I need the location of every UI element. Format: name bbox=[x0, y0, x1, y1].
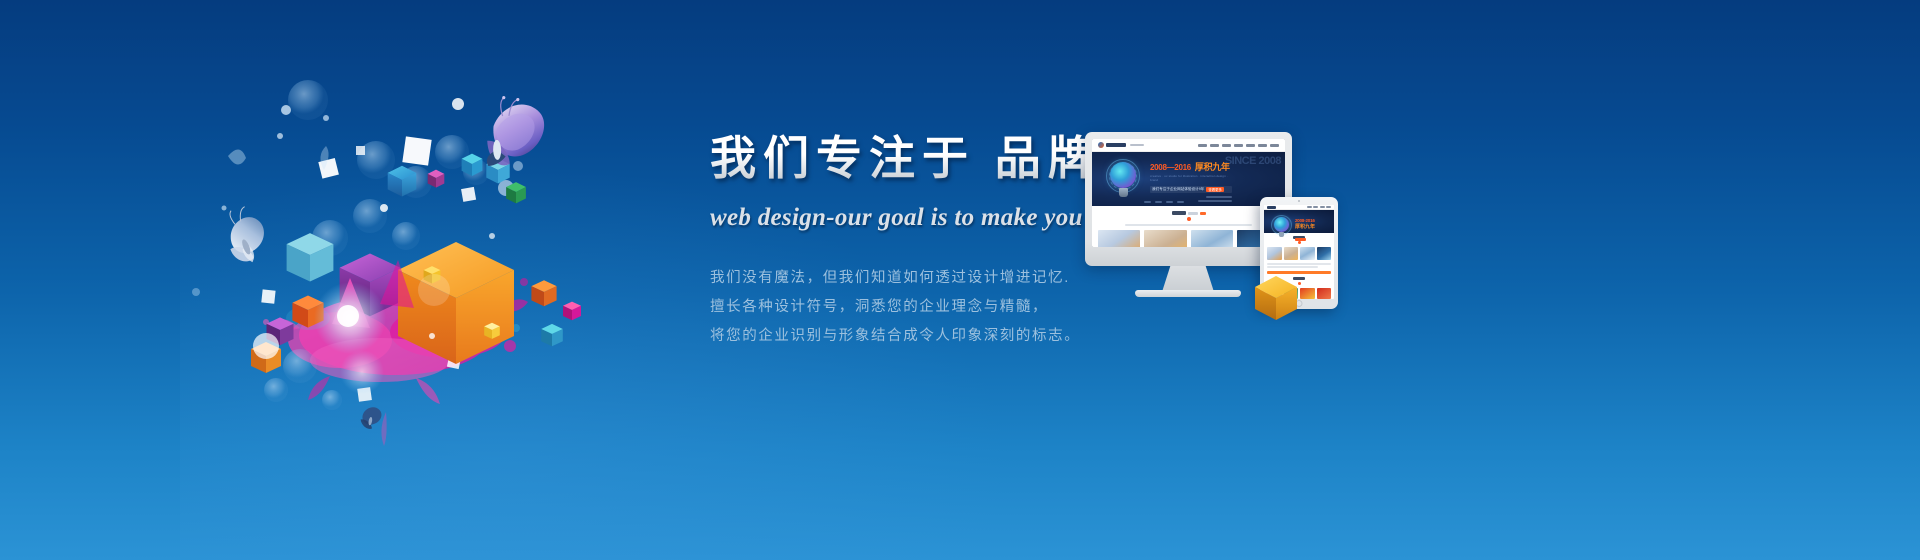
device-mockups: SINCE 2008 2008—2016 厚积九年 bbox=[1085, 132, 1385, 332]
hero-tab[interactable] bbox=[1177, 201, 1184, 203]
nav-item bbox=[1222, 144, 1231, 147]
service-card-grid bbox=[1098, 230, 1279, 247]
tablet-lightbulb-icon bbox=[1271, 216, 1291, 238]
section-heading-en bbox=[1188, 212, 1198, 215]
service-card[interactable] bbox=[1144, 230, 1186, 247]
tablet-hero-tagline bbox=[1295, 233, 1327, 236]
golden-3d-cube bbox=[1253, 274, 1299, 322]
tablet-hero-copy: 2008-2016 厚积九年 bbox=[1295, 218, 1327, 241]
site-services-section bbox=[1092, 206, 1285, 247]
hero-watermark-text: SINCE 2008 bbox=[1225, 155, 1281, 167]
nav-item bbox=[1198, 144, 1207, 147]
hero-tab[interactable] bbox=[1155, 201, 1162, 203]
hero-meta-line bbox=[1198, 200, 1232, 202]
text-line bbox=[1267, 266, 1318, 268]
site-navbar bbox=[1092, 139, 1285, 152]
bulb-globe bbox=[1110, 162, 1136, 188]
monitor-stand-neck bbox=[1162, 266, 1214, 292]
tablet-camera-icon bbox=[1298, 200, 1300, 202]
hero-cta-button[interactable]: 查看更多 bbox=[1206, 187, 1224, 192]
tablet-card[interactable] bbox=[1317, 247, 1332, 260]
website-preview: SINCE 2008 2008—2016 厚积九年 bbox=[1092, 139, 1285, 247]
hero-subline: creative · ux studio for illustration · … bbox=[1150, 174, 1232, 182]
section-description bbox=[1125, 224, 1252, 226]
text-line bbox=[1267, 263, 1331, 265]
monitor-screen: SINCE 2008 2008—2016 厚积九年 bbox=[1092, 139, 1285, 247]
nav-item bbox=[1270, 144, 1279, 147]
tablet-card-grid bbox=[1264, 247, 1334, 260]
hero-tagline-row: 我们专注于企业网站体验设计9年 查看更多 bbox=[1150, 186, 1232, 193]
hero-banner: 我们专注于 品牌设计 web design-our goal is to mak… bbox=[0, 0, 1920, 560]
gallery-thumb[interactable] bbox=[1300, 288, 1315, 299]
section-heading-accent bbox=[1200, 212, 1206, 215]
monitor-stand-base bbox=[1135, 290, 1241, 297]
butterfly-small bbox=[225, 205, 268, 265]
tablet-card[interactable] bbox=[1300, 247, 1315, 260]
tablet-logo bbox=[1267, 206, 1276, 209]
tablet-card[interactable] bbox=[1267, 247, 1282, 260]
nav-item bbox=[1258, 144, 1267, 147]
nav-item bbox=[1234, 144, 1243, 147]
service-card[interactable] bbox=[1191, 230, 1233, 247]
hero-tab[interactable] bbox=[1166, 201, 1173, 203]
site-nav-items bbox=[1198, 144, 1279, 147]
logo-mark-icon bbox=[1098, 142, 1104, 148]
nav-item bbox=[1313, 206, 1318, 208]
logo-wordmark bbox=[1106, 143, 1126, 147]
tablet-hero-cta[interactable] bbox=[1295, 238, 1306, 241]
tablet-nav-items bbox=[1307, 206, 1332, 208]
nav-item bbox=[1210, 144, 1219, 147]
section-heading bbox=[1098, 211, 1279, 215]
tablet-text-lines bbox=[1264, 260, 1334, 268]
hero-years-line: 2008—2016 厚积九年 bbox=[1150, 162, 1232, 173]
hero-tagline-text: 我们专注于企业网站体验设计9年 bbox=[1152, 187, 1204, 192]
tablet-hero-banner: 2008-2016 厚积九年 bbox=[1264, 210, 1334, 233]
site-logo bbox=[1098, 142, 1144, 148]
section-divider-dot bbox=[1187, 217, 1191, 221]
hero-meta-line bbox=[1206, 196, 1232, 198]
site-hero-banner: SINCE 2008 2008—2016 厚积九年 bbox=[1092, 152, 1285, 206]
abstract-artwork bbox=[180, 60, 600, 460]
gallery-thumb[interactable] bbox=[1317, 288, 1332, 299]
hero-years: 2008—2016 bbox=[1150, 163, 1191, 173]
tablet-card[interactable] bbox=[1284, 247, 1299, 260]
nav-item bbox=[1320, 206, 1325, 208]
hero-copy: 2008—2016 厚积九年 creative · ux studio for … bbox=[1150, 162, 1232, 202]
bulb-base bbox=[1119, 188, 1128, 197]
section-heading-zh bbox=[1172, 211, 1186, 215]
hero-headline-zh: 厚积九年 bbox=[1195, 162, 1230, 172]
lightbulb-network-icon bbox=[1106, 161, 1140, 199]
service-card[interactable] bbox=[1098, 230, 1140, 247]
bulb-globe bbox=[1274, 217, 1289, 232]
logo-tagline bbox=[1130, 144, 1144, 146]
nav-item bbox=[1307, 206, 1312, 208]
tablet-hero-headline: 厚积九年 bbox=[1295, 223, 1327, 230]
bulb-base bbox=[1279, 232, 1284, 237]
hero-nav-tabs[interactable] bbox=[1144, 201, 1184, 203]
butterfly-tiny bbox=[359, 405, 382, 430]
nav-item bbox=[1326, 206, 1331, 208]
hero-tab[interactable] bbox=[1144, 201, 1151, 203]
nav-item bbox=[1246, 144, 1255, 147]
